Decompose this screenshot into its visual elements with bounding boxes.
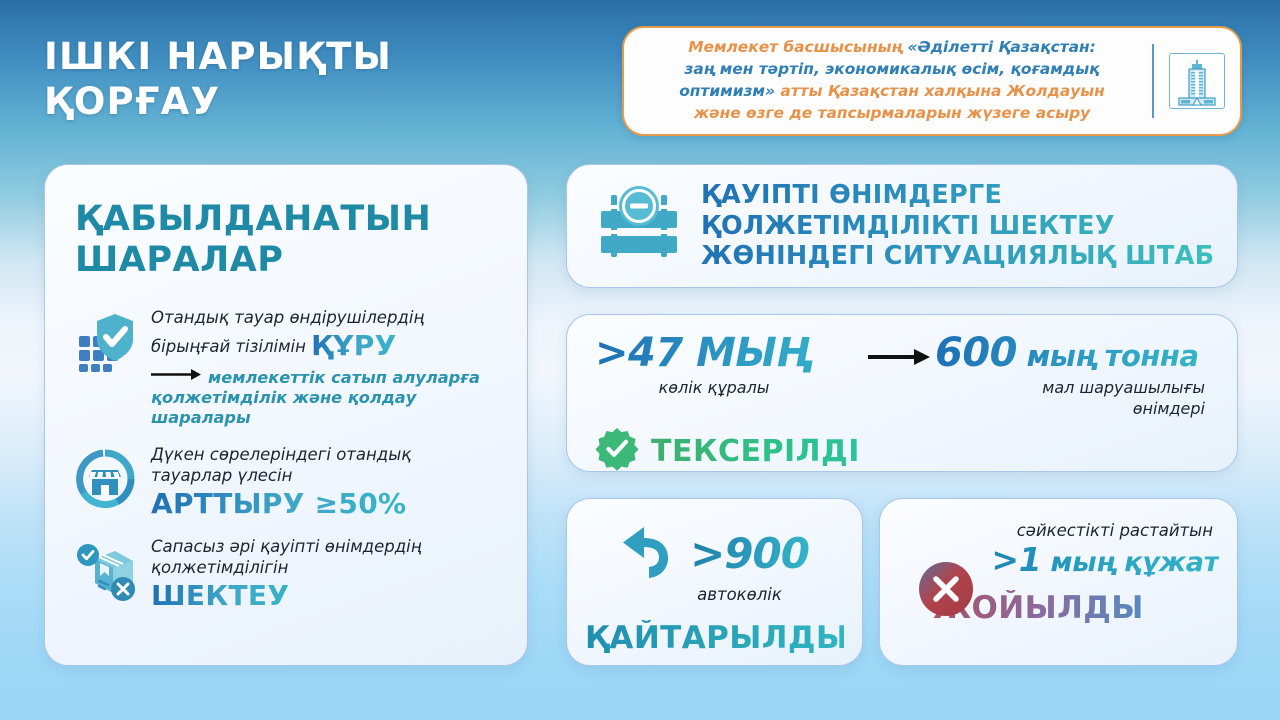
measure-item: Сапасыз әрі қауіпті өнімдердің қолжетімд… — [75, 537, 497, 612]
measure-lead: Сапасыз әрі қауіпті өнімдердің қолжетімд… — [151, 537, 497, 579]
hq-title: ҚАУІПТІ ӨНІМДЕРГЕ ҚОЛЖЕТІМДІЛІКТІ ШЕКТЕУ… — [691, 180, 1217, 272]
measure-item: Дүкен сөрелеріндегі отандық тауарлар үле… — [75, 445, 497, 520]
measure-body: Дүкен сөрелеріндегі отандық тауарлар үле… — [141, 445, 497, 520]
checked-label: ТЕКСЕРІЛДІ — [651, 434, 860, 469]
stats-left: >47 МЫҢ көлік құралы — [595, 333, 863, 399]
situational-hq-card: ҚАУІПТІ ӨНІМДЕРГЕ ҚОЛЖЕТІМДІЛІКТІ ШЕКТЕУ… — [566, 164, 1238, 288]
banner-logo — [1154, 53, 1240, 109]
stats-right: 600 мың тонна мал шаруашылығы өнімдері — [935, 333, 1209, 419]
vehicles-caption: көлік құралы — [595, 378, 863, 399]
measure-body: Сапасыз әрі қауіпті өнімдердің қолжетімд… — [141, 537, 497, 612]
destroyed-caption: сәйкестікті растайтын — [898, 521, 1219, 540]
returned-caption: автокөлік — [585, 585, 844, 604]
returned-value: >900 — [690, 533, 809, 575]
banner-line3-orange: атты Қазақстан халқына Жолдауын — [780, 82, 1104, 100]
measure-strong: ҚҰРУ — [311, 329, 396, 362]
destroyed-value: >1 мың құжат — [991, 542, 1219, 578]
banner-line1-blue: «Әділетті Қазақстан: — [908, 38, 1096, 56]
red-cross-badge-icon — [916, 559, 976, 623]
return-arrow-icon — [620, 521, 682, 587]
government-building-icon — [1169, 53, 1225, 109]
page-title: ІШКІ НАРЫҚТЫ ҚОРҒАУ — [44, 34, 392, 124]
measures-card: ҚАБЫЛДАНАТЫН ШАРАЛАР Отандық тауар өндір… — [44, 164, 528, 666]
tonnage-value: 600 мың тонна — [935, 333, 1209, 374]
banner-line2: заң мен тәртіп, экономикалық өсім, қоғам… — [684, 60, 1099, 78]
banner-text: Мемлекет басшысының «Әділетті Қазақстан:… — [624, 31, 1152, 131]
banner-divider — [1152, 44, 1154, 118]
banner-line3-blue: оптимизм» — [679, 82, 780, 100]
inspection-stats-card: >47 МЫҢ көлік құралы 600 мың тонна мал ш… — [566, 314, 1238, 472]
banner-line4: және өзге де тапсырмаларын жүзеге асыру — [694, 104, 1090, 122]
returned-label: ҚАЙТАРЫЛДЫ — [585, 620, 844, 656]
measure-sub: мемлекеттік сатып алуларға қолжетімділік… — [151, 366, 497, 429]
checked-status: ТЕКСЕРІЛДІ — [595, 427, 1209, 475]
shop-donut-icon — [75, 445, 141, 513]
vehicles-value: >47 МЫҢ — [595, 333, 863, 374]
measure-item: Отандық тауар өндірушілердің бірыңғай ті… — [75, 308, 497, 429]
package-check-cross-icon — [75, 537, 141, 607]
returned-vehicles-card: >900 автокөлік ҚАЙТАРЫЛДЫ — [566, 498, 863, 666]
measure-strong: АРТТЫРУ ≥50% — [151, 487, 406, 520]
measure-lead: Дүкен сөрелеріндегі отандық тауарлар үле… — [151, 445, 497, 487]
measure-strong-wrap: АРТТЫРУ ≥50% — [151, 487, 497, 520]
president-address-banner: Мемлекет басшысының «Әділетті Қазақстан:… — [622, 26, 1242, 136]
green-check-badge-icon — [595, 427, 639, 475]
measure-strong: ШЕКТЕУ — [151, 579, 289, 612]
measure-strong-wrap: ШЕКТЕУ — [151, 579, 497, 612]
stats-row: >47 МЫҢ көлік құралы 600 мың тонна мал ш… — [595, 333, 1209, 419]
banner-line1-orange: Мемлекет басшысының — [688, 38, 907, 56]
right-arrow-icon — [151, 366, 201, 386]
shield-check-grid-icon — [75, 308, 141, 378]
left-card-title: ҚАБЫЛДАНАТЫН ШАРАЛАР — [75, 199, 497, 282]
returned-row: >900 — [585, 521, 844, 587]
tonnage-caption: мал шаруашылығы өнімдері — [935, 378, 1209, 420]
barrier-restrict-icon — [587, 181, 691, 271]
measure-body: Отандық тауар өндірушілердің бірыңғай ті… — [141, 308, 497, 429]
measure-lead: Отандық тауар өндірушілердің бірыңғай ті… — [151, 308, 497, 364]
destroyed-documents-card: сәйкестікті растайтын >1 мың құжат ЖОЙЫЛ… — [879, 498, 1238, 666]
right-arrow-icon — [863, 333, 935, 367]
